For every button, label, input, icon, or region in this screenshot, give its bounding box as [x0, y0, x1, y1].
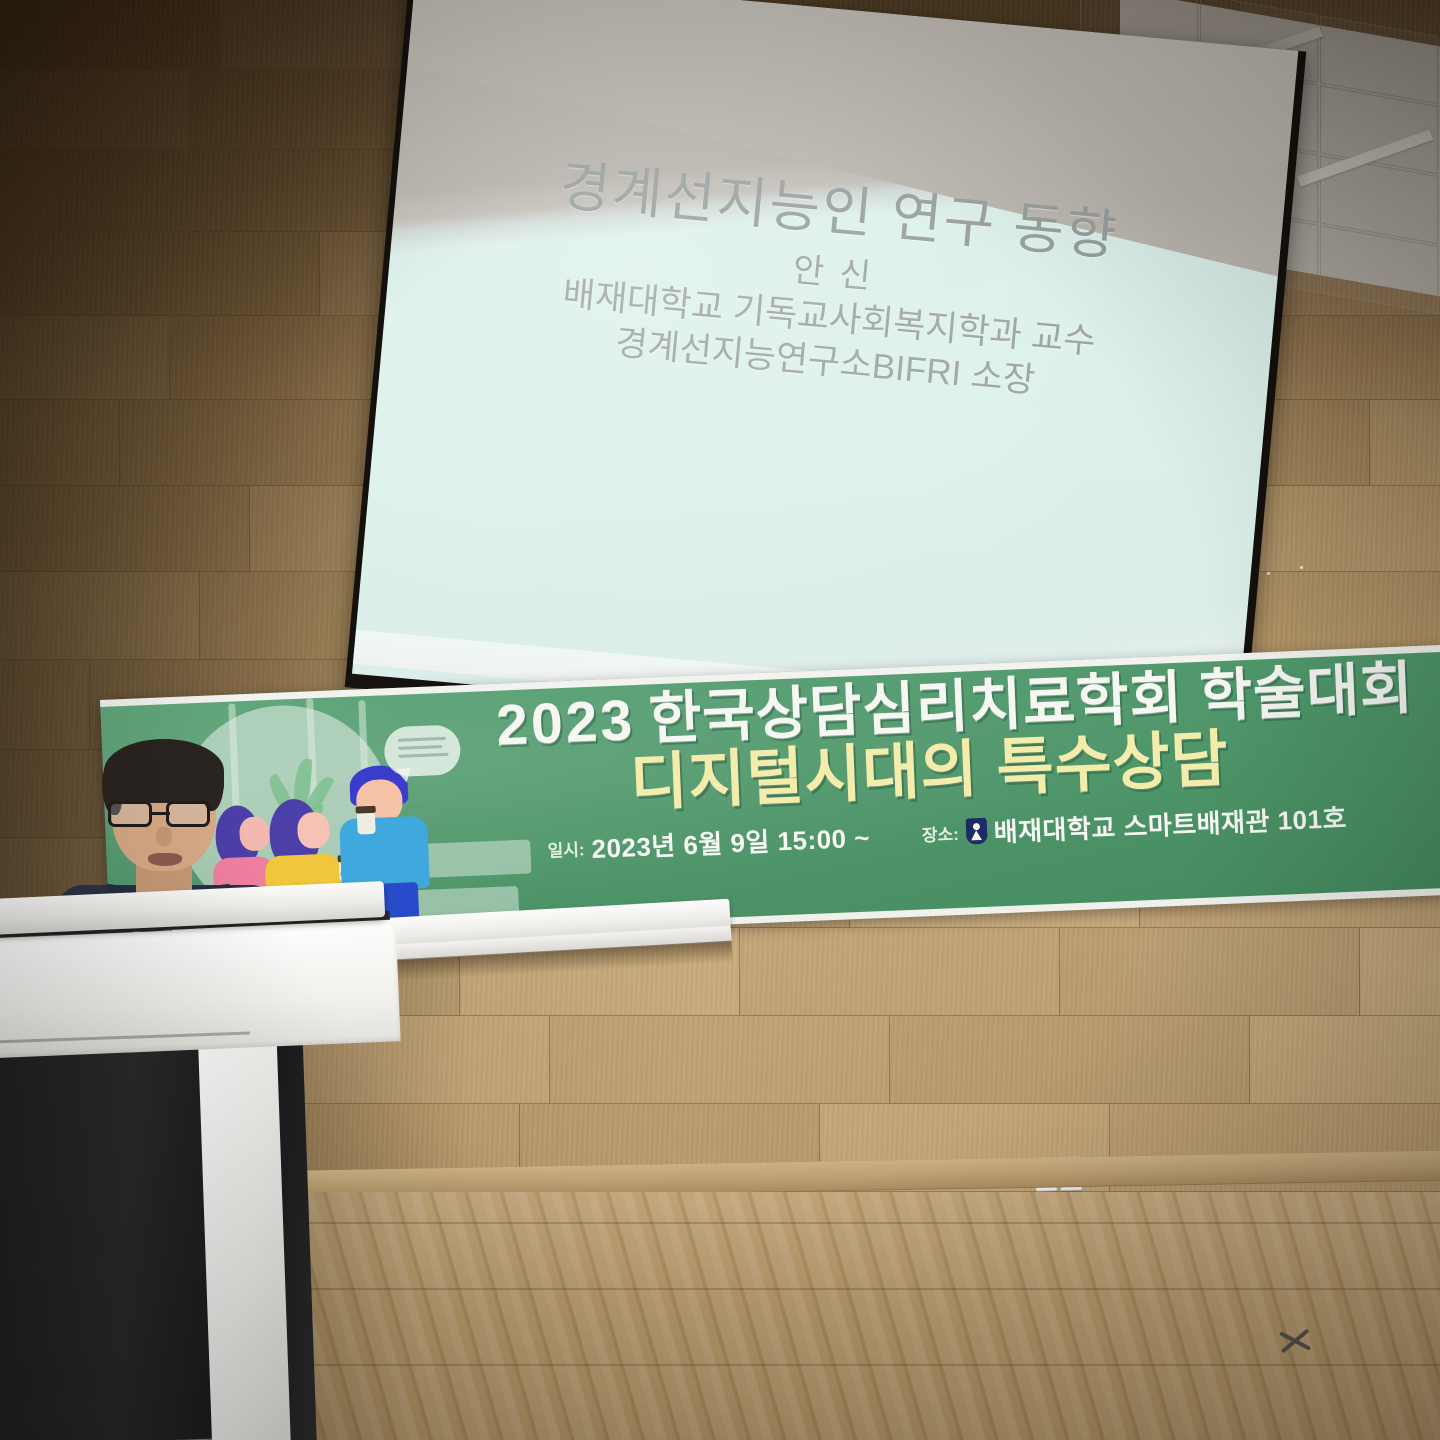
wall-plank	[890, 1016, 1250, 1104]
wall-plank	[1370, 400, 1440, 486]
glasses-bridge	[152, 812, 170, 815]
wall-plank	[0, 316, 170, 400]
wall-plank	[550, 1016, 890, 1104]
banner-place-value: 배재대학교 스마트배재관 101호	[993, 798, 1348, 849]
banner-date-value: 2023년 6월 9일 15:00 ~	[591, 817, 871, 865]
conference-photo-scene: 경계선지능인 연구 동향 안 신 배재대학교 기독교사회복지학과 교수 경계선지…	[0, 0, 1440, 1440]
wall-plank	[60, 150, 410, 232]
wall-plank	[740, 928, 1060, 1016]
eyeglasses-icon	[104, 801, 226, 829]
speech-bubble-tail	[395, 768, 412, 783]
wall-plank	[0, 0, 220, 70]
wall-plank	[0, 572, 200, 660]
wall-plank	[0, 232, 320, 316]
projection-screen: 경계선지능인 연구 동향 안 신 배재대학교 기독교사회복지학과 교수 경계선지…	[345, 0, 1307, 769]
wall-plank	[0, 150, 60, 232]
screen-surface: 경계선지능인 연구 동향 안 신 배재대학교 기독교사회복지학과 교수 경계선지…	[352, 0, 1299, 756]
floor-tape-x-mark	[1278, 1333, 1313, 1346]
university-crest-icon	[965, 818, 987, 845]
lectern-podium	[0, 900, 426, 1440]
banner-place-label: 장소:	[921, 820, 959, 846]
wall-plank	[0, 400, 120, 486]
wall-light-speck	[1300, 566, 1303, 569]
presenter-nose	[156, 827, 172, 847]
banner-text-block: 2023한국상담심리치료학회 학술대회 디지털시대의 특수상담 일시: 2023…	[495, 659, 1433, 870]
banner-date-group: 일시: 2023년 6월 9일 15:00 ~	[547, 817, 871, 867]
wall-plank	[1250, 1016, 1440, 1104]
wall-plank	[1360, 928, 1440, 1016]
banner-date-label: 일시:	[547, 835, 585, 861]
wall-plank	[0, 486, 250, 572]
banner-year: 2023	[495, 688, 636, 758]
wall-light-speck	[1267, 572, 1270, 575]
glasses-lens-left	[108, 801, 152, 827]
wall-plank	[1060, 928, 1360, 1016]
wall-plank	[0, 70, 190, 150]
glasses-lens-right	[166, 801, 210, 827]
presenter-mouth	[148, 853, 182, 866]
banner-place-group: 장소: 배재대학교 스마트배재관 101호	[921, 798, 1347, 852]
